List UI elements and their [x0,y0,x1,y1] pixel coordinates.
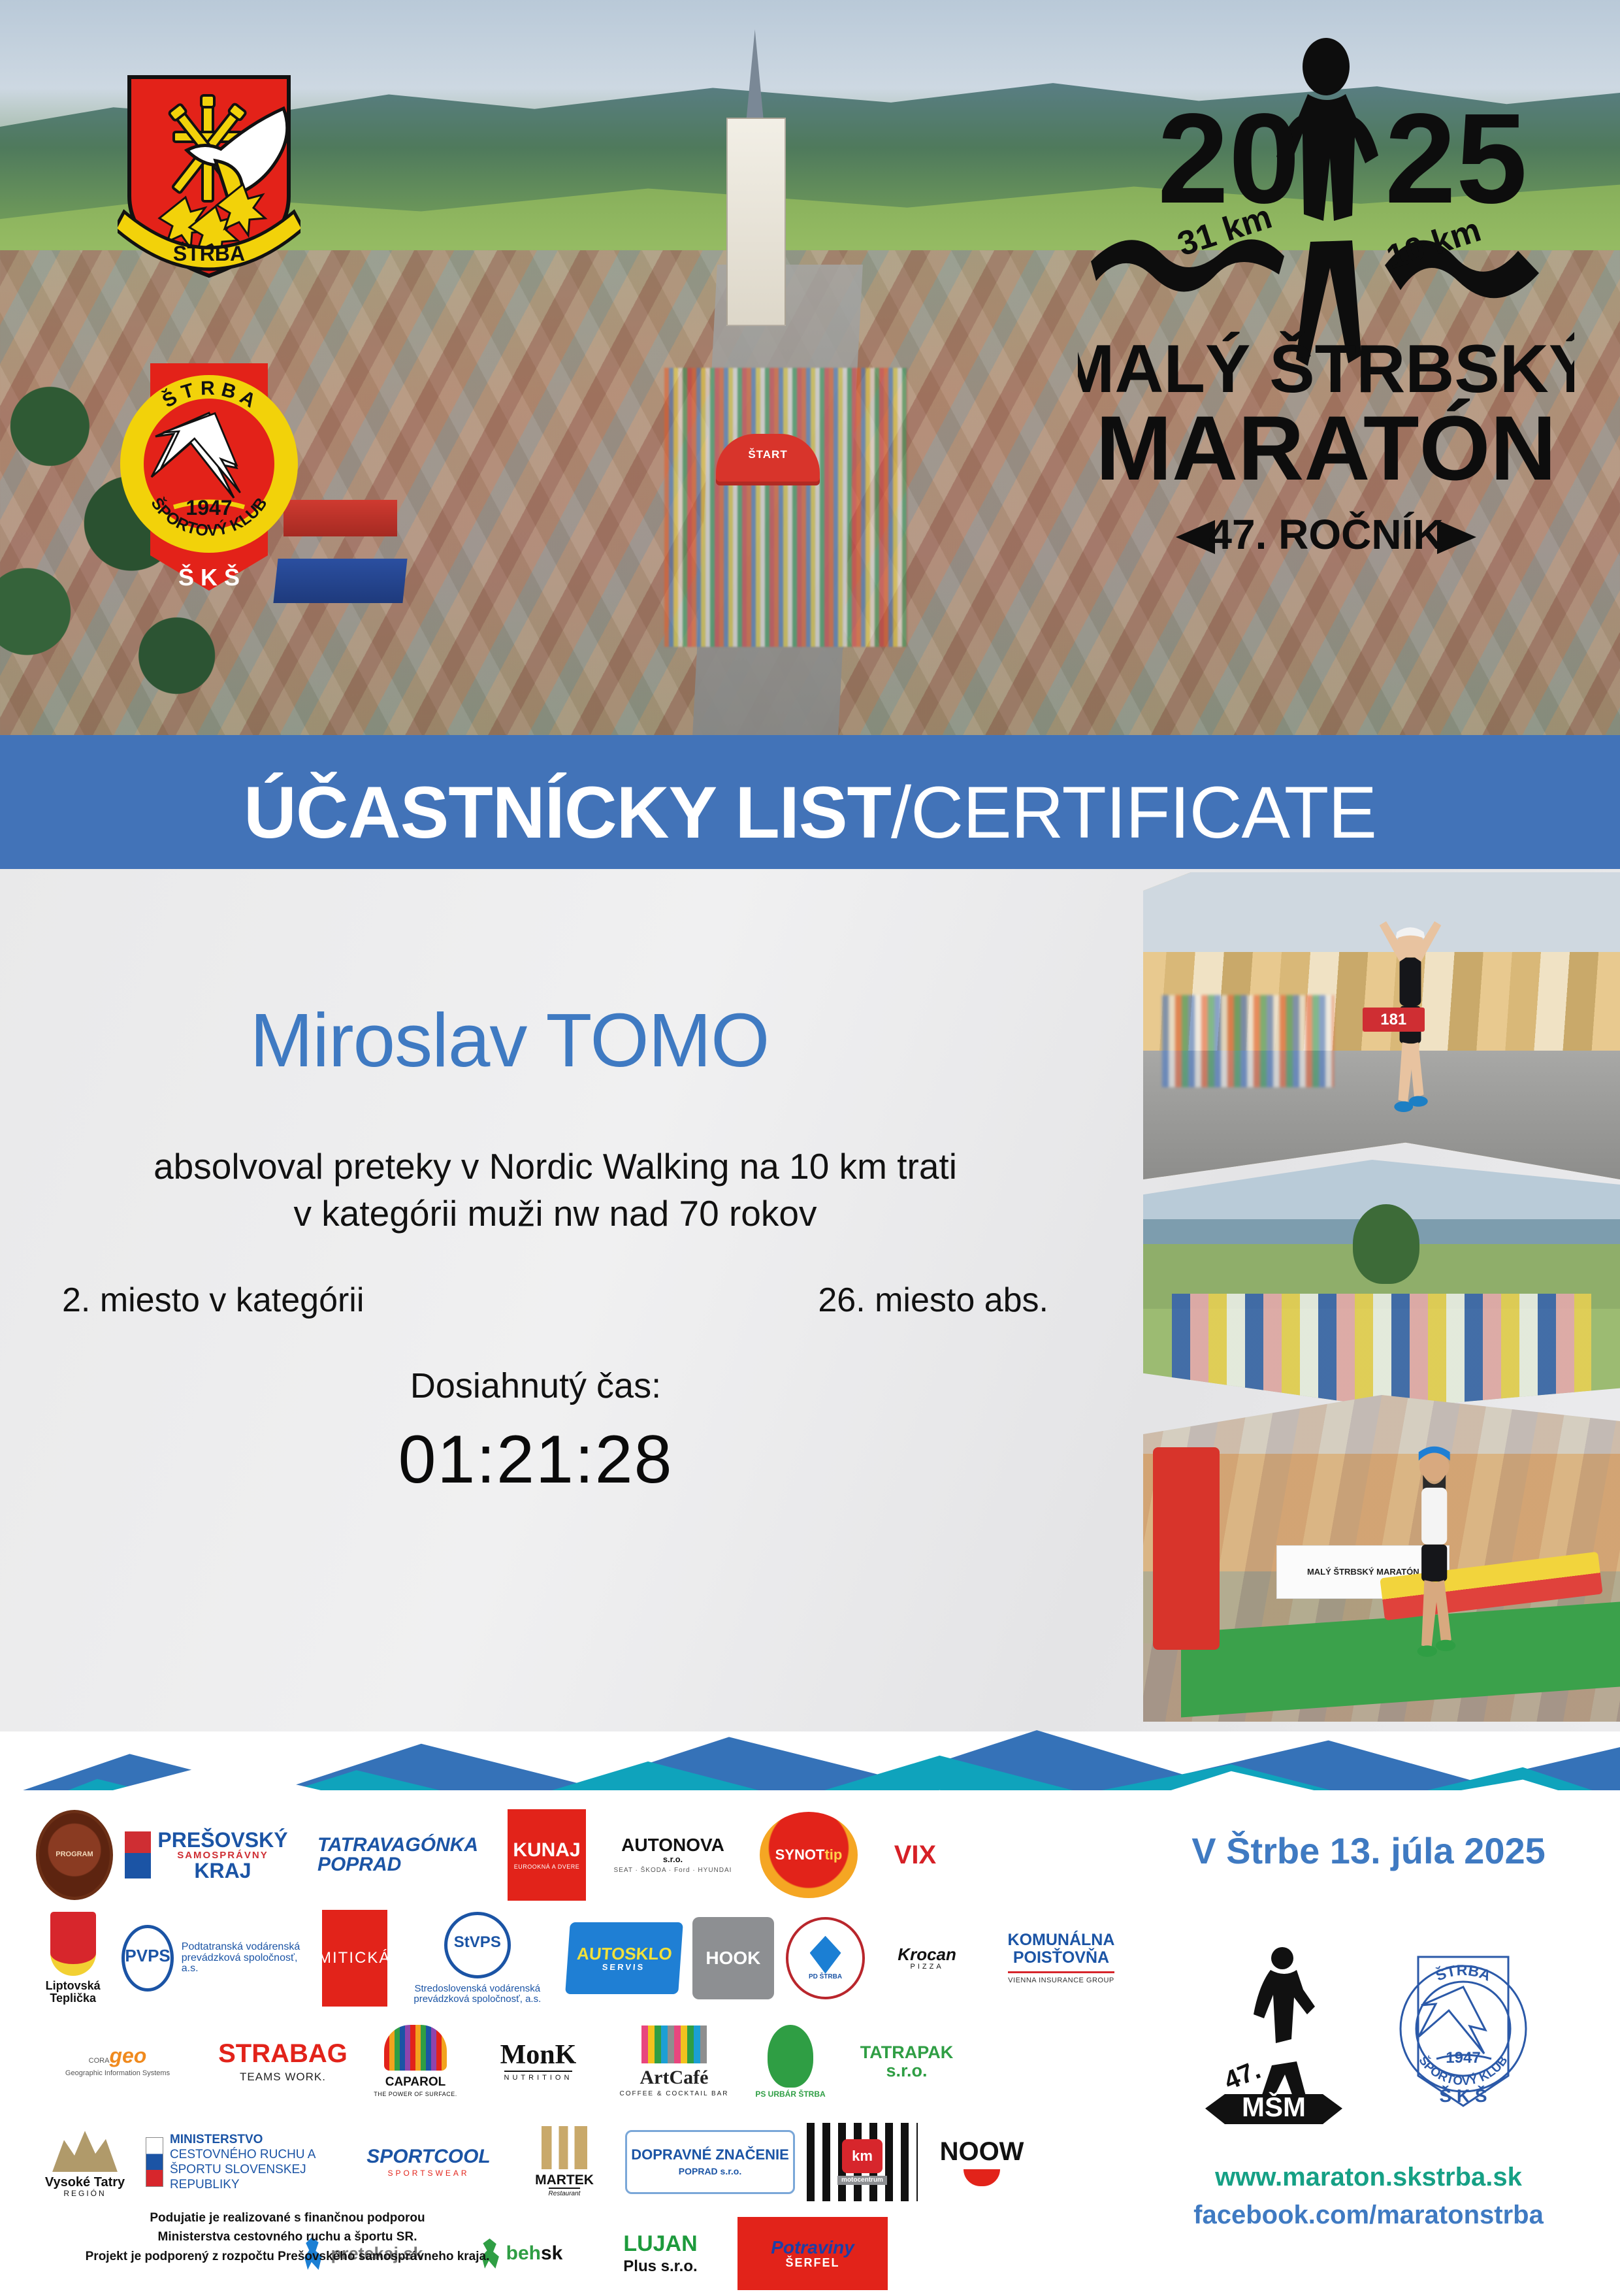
church [721,29,789,323]
artcafe-sub: COFFEE & COCKTAIL BAR [619,2091,728,2098]
potraviny-sub: ŠERFEL [785,2257,839,2269]
club-year: 1947 [186,496,232,519]
artcafe-name: ArtCafé [640,2067,709,2088]
msm-abbrev: MŠM [1242,2091,1306,2122]
liptov-l2: Teplička [50,1992,96,2005]
cora-tag: Geographic Information Systems [65,2070,170,2078]
sponsor-pd-strba: PD ŠTRBA [786,1917,865,1999]
krocan-sub: PIZZA [911,1963,944,1971]
sportcool-name: SPORTCOOL [366,2146,490,2167]
title-separator: / [891,770,911,855]
pvps-sub: Podtatranská vodárenská prevádzková spol… [182,1942,310,1975]
sponsor-potraviny-serfel: Potraviny ŠERFEL [737,2217,888,2290]
marathon-year-right: 25 [1385,87,1527,230]
tatry-peaks-icon [52,2126,118,2172]
participant-name: Miroslav TOMO [0,996,1019,1084]
sponsor-tatravagonka: TATRAVAGÓNKA POPRAD [300,1835,496,1875]
dopravne-sub: POPRAD s.r.o. [679,2166,741,2176]
monk-name: MonK [500,2041,577,2069]
sponsor-strabag: STRABAG TEAMS WORK. [211,2040,355,2083]
tatra-line1: TATRAVAGÓNKA [317,1834,478,1856]
sponsor-stvps: StVPS Stredoslovenská vodárenská prevádz… [399,1912,556,2005]
synot-name: SYNOT [775,1847,825,1862]
start-arch: ŠTART [716,434,820,485]
sponsor-km-motocentrum: km motocentrum [807,2123,918,2201]
sponsor-hook: HOOK [692,1917,774,1999]
caparol-sub: THE POWER OF SURFACE. [374,2091,457,2097]
sportcool-sub: SPORTSWEAR [387,2169,469,2178]
sponsor-autosklo: AUTOSKLO SERVIS [565,1922,683,1994]
start-arch-label: ŠTART [716,448,820,461]
cutlery-icon [542,2126,587,2169]
marathon-title-line2: MARATÓN [1095,397,1556,499]
photo-collage: 181 MALÝ ŠTRBSKÝ MARATÓN [1143,872,1620,1722]
potraviny-name: Potraviny [771,2238,854,2257]
dopravne-name: DOPRAVNÉ ZNAČENIE [631,2146,789,2163]
strabag-sub: TEAMS WORK. [240,2071,326,2083]
sponsor-row-1: PROGRAM PREŠOVSKÝ SAMOSPRÁVNY KRAJ TATRA… [36,1803,1133,1907]
sponsor-ministerstvo: MINISTERSTVO CESTOVNÉHO RUCHU A ŠPORTU S… [146,2132,342,2193]
sponsor-row-2: Liptovská Teplička PVPSPodtatranská vodá… [36,1907,1133,2010]
sponsor-martek: MARTEK Restaurant [515,2126,613,2198]
hero-photo: ŠTART ŠTRBA [0,0,1620,735]
strabag-name: STRABAG [218,2040,348,2067]
tatrapak-name: TATRAPAK s.r.o. [845,2043,969,2080]
psk-line3: KRAJ [194,1859,251,1882]
stamp-year: 1947 [1446,2049,1480,2067]
support-statement: Podujatie je realizované s finančnou pod… [39,2208,536,2266]
sponsor-vysoke-tatry-region: Vysoké Tatry REGIÓN [36,2126,134,2198]
komunalna-sub: VIENNA INSURANCE GROUP [1008,1971,1114,1985]
tatra-line2: POPRAD [317,1854,401,1875]
sponsor-footer: PROGRAM PREŠOVSKÝ SAMOSPRÁVNY KRAJ TATRA… [0,1790,1620,2292]
km-name: km [842,2139,883,2173]
photo-finisher-woman: 181 [1143,872,1620,1179]
psk-line1: PREŠOVSKÝ [157,1828,287,1852]
komunalna-name: KOMUNÁLNA POISŤOVŇA [989,1931,1133,1966]
website-url[interactable]: www.maraton.skstrba.sk [1143,2163,1594,2192]
hook-name: HOOK [705,1948,760,1967]
placement-row: 2. miesto v kategórii 26. miesto abs. [0,1281,1110,1320]
vix-name: VIX [894,1841,936,1869]
beh-sub: sk [541,2243,562,2264]
finish-time-label: Dosiahnutý čas: [0,1366,1071,1406]
vysoke-name: Vysoké Tatry [45,2176,125,2189]
vysoke-sub: REGIÓN [63,2189,106,2198]
sponsor-kunaj: KUNAJ EUROOKNÁ A DVERE [508,1809,586,1901]
support-line-1: Podujatie je realizované s finančnou pod… [39,2208,536,2227]
finisher-figure [1391,1441,1477,1682]
marathon-logo: 20 25 31 km 10 km MALÝ ŠTRBSKÝ MARATÓN 4… [1078,26,1574,601]
noow-smile-icon [964,2169,1000,2186]
miticka-name: MITICKÁ [318,1950,391,1966]
liptovska-shield-icon [50,1912,96,1976]
sponsor-caparol: CAPAROL THE POWER OF SURFACE. [366,2025,464,2097]
cora-sub: geo [109,2044,146,2067]
kunaj-name: KUNAJ [513,1840,580,1861]
sponsor-synottip: SYNOTtip [760,1812,858,1898]
minist-name: MINISTERSTVO [170,2133,263,2146]
sponsor-ps-urbar-strba: PS URBÁR ŠTRBA [748,2025,833,2099]
sponsor-program-trencin: PROGRAM [36,1810,113,1900]
noow-name: NOOW [940,2138,1024,2165]
krocan-name: Krocan [898,1946,956,1963]
sponsor-lujan-plus: LUJAN Plus s.r.o. [602,2233,719,2275]
lujan-sub: Plus s.r.o. [623,2258,697,2274]
km-sub: motocentrum [837,2176,887,2186]
monk-sub: NUTRITION [504,2071,573,2082]
artcafe-steam-icon [641,2025,707,2063]
lujan-name: LUJAN [623,2233,697,2256]
sponsor-presovsky-kraj: PREŠOVSKÝ SAMOSPRÁVNY KRAJ [125,1829,288,1881]
autonova-name: AUTONOVA [621,1835,724,1854]
race-crowd [664,368,907,648]
sk-flag-icon [146,2137,163,2187]
urbar-tree-icon [768,2025,813,2088]
sponsor-komunalna-poistovna: KOMUNÁLNA POISŤOVŇA VIENNA INSURANCE GRO… [989,1931,1133,1984]
cora-name: CORA [89,2057,110,2065]
sponsor-artcafe: ArtCafé COFFEE & COCKTAIL BAR [612,2025,736,2097]
finish-time-value: 01:21:28 [0,1421,1071,1499]
stvps-sub: Stredoslovenská vodárenská prevádzková s… [399,1984,556,2005]
sponsor-noow: NOOW [930,2138,1034,2186]
autosklo-name: AUTOSKLO [576,1945,672,1963]
sponsor-tatrapak: TATRAPAK s.r.o. [845,2043,969,2080]
stvps-name: StVPS [444,1912,511,1978]
msm-edition: 47. [1220,2056,1265,2096]
club-abbrev: Š K Š [178,563,240,591]
facebook-url[interactable]: facebook.com/maratonstrba [1143,2201,1594,2230]
pvps-name: PVPS [121,1925,173,1992]
autonova-brands: SEAT · ŠKODA · Ford · HYUNDAI [614,1867,732,1875]
description-line-1: absolvoval preteky v Nordic Walking na 1… [0,1143,1110,1190]
liptov-l1: Liptovská [46,1980,101,1992]
caparol-elephant-icon [384,2025,447,2071]
pd-drop-icon [810,1936,841,1974]
sponsor-row-4: Vysoké Tatry REGIÓN MINISTERSTVO CESTOVN… [36,2113,1133,2211]
minist-sub: CESTOVNÉHO RUCHU A ŠPORTU SLOVENSKEJ REP… [170,2148,315,2191]
place-absolute: 26. miesto abs. [818,1281,1048,1320]
sponsor-vix: VIX [869,1809,961,1901]
support-line-3: Projekt je podporený z rozpočtu Prešovsk… [39,2247,536,2266]
sponsor-krocan-pizza: Krocan PIZZA [877,1946,977,1971]
photo-runners-meadow [1143,1160,1620,1408]
autosklo-sub: SERVIS [602,1963,645,1972]
description-line-2: v kategórii muži nw nad 70 rokov [0,1190,1110,1238]
sponsor-miticka: MITICKÁ [322,1910,387,2007]
autonova-sub: s.r.o. [663,1855,683,1864]
stamp-abbrev: Š K Š [1439,2085,1487,2106]
certificate-description: absolvoval preteky v Nordic Walking na 1… [0,1143,1110,1237]
sks-club-emblem-icon: 1947 Š T R B A ŠPORTOVÝ KLUB Š K Š [111,340,307,595]
coat-label: ŠTRBA [173,242,245,265]
runner-bib-number: 181 [1363,1008,1425,1032]
strba-coat-of-arms-icon: ŠTRBA [118,72,300,287]
sponsor-corageo: CORAgeo Geographic Information Systems [36,2045,199,2077]
sponsor-monk-nutrition: MonK NUTRITION [476,2041,600,2082]
martek-name: MARTEK [535,2173,594,2188]
sponsor-row-3: CORAgeo Geographic Information Systems S… [36,2010,1133,2113]
footer-marks: 47. MŠM 1947 [1143,1921,1594,2137]
synot-sub: tip [824,1847,842,1862]
sponsor-dopravne-znacenie: DOPRAVNÉ ZNAČENIE POPRAD s.r.o. [625,2130,795,2194]
title-english: CERTIFICATE [911,770,1376,855]
msm-47-mark-icon: 47. MŠM [1199,1931,1349,2127]
marathon-year-left: 20 [1158,87,1300,230]
sponsor-pvps: PVPSPodtatranská vodárenská prevádzková … [121,1925,310,1992]
kunaj-sub: EUROOKNÁ A DVERE [514,1864,580,1870]
caparol-name: CAPAROL [385,2076,446,2089]
event-date: V Štrbe 13. júla 2025 [1143,1829,1594,1872]
photo-finish-line: MALÝ ŠTRBSKÝ MARATÓN [1143,1395,1620,1722]
sponsor-sportcool: SPORTCOOL SPORTSWEAR [353,2146,504,2178]
marathon-edition-label: 47. ROČNÍK [1208,510,1443,558]
sponsor-autonova: AUTONOVA s.r.o. SEAT · ŠKODA · Ford · HY… [598,1835,748,1875]
pd-name: PD ŠTRBA [809,1973,842,1980]
support-line-2: Ministerstva cestovného ruchu a športu S… [39,2227,536,2246]
marathon-title-line1: MALÝ ŠTRBSKÝ [1078,331,1574,407]
martek-sub: Restaurant [549,2188,581,2198]
urbar-name: PS URBÁR ŠTRBA [755,2090,825,2099]
sks-official-stamp-icon: 1947 ŠTRBA ŠPORTOVÝ KLUB Š K Š [1388,1931,1538,2127]
title-slovak: ÚČASTNÍCKY LIST [244,770,891,855]
psk-flag-icon [125,1831,151,1878]
footer-right-column: V Štrbe 13. júla 2025 47. MŠM [1143,1797,1594,2280]
place-in-category: 2. miesto v kategórii [62,1281,364,1320]
sponsor-liptovska-teplicka: Liptovská Teplička [36,1912,110,2005]
